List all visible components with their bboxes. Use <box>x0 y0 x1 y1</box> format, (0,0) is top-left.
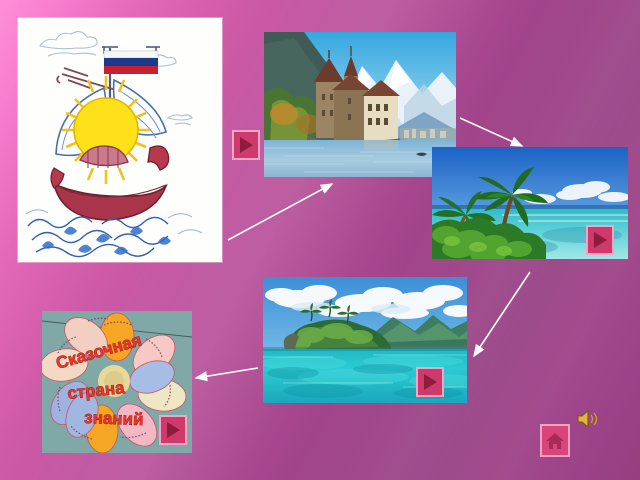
play-triangle-icon <box>594 232 607 248</box>
home-button[interactable] <box>540 424 570 457</box>
russian-flag <box>104 51 158 74</box>
play-button-island[interactable] <box>416 367 444 397</box>
home-icon <box>545 432 565 450</box>
presentation-slide: Сказочная страна знаний <box>0 0 640 480</box>
play-triangle-icon <box>424 374 437 390</box>
play-triangle-icon <box>167 422 180 438</box>
svg-text:знаний: знаний <box>84 408 144 429</box>
castle-photo-image[interactable] <box>264 32 456 177</box>
arrow-ship-to-castle <box>228 184 332 240</box>
play-triangle-icon <box>240 137 253 153</box>
castle-photo-graphic <box>264 32 456 177</box>
play-button-beach[interactable] <box>586 225 614 255</box>
arrow-beach-to-island <box>474 272 530 356</box>
arrow-island-to-flower <box>196 368 258 378</box>
ship-drawing-image[interactable] <box>18 18 222 262</box>
speaker-icon <box>576 408 602 430</box>
play-button-flower[interactable] <box>159 415 187 445</box>
sound-icon[interactable] <box>576 408 602 430</box>
arrow-castle-to-beach <box>460 118 522 146</box>
ship-drawing-graphic <box>18 18 222 262</box>
play-button-ship[interactable] <box>232 130 260 160</box>
